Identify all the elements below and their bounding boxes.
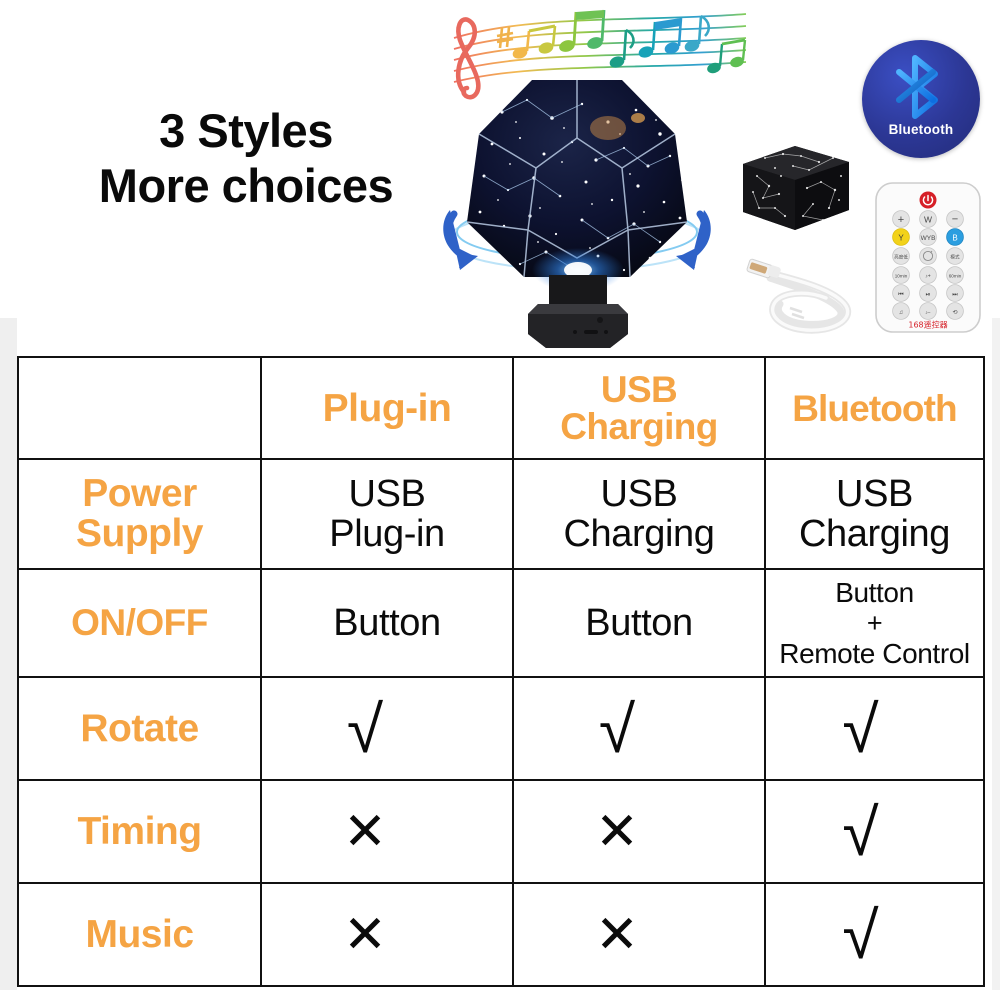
svg-text:亮度低: 亮度低 bbox=[894, 254, 908, 261]
header-cell-usb-charging: USB Charging bbox=[513, 357, 765, 459]
cell-onoff-plugin: Button bbox=[261, 569, 513, 677]
check-icon: √ bbox=[842, 902, 878, 968]
cell-line3: Remote Control bbox=[766, 638, 983, 669]
cross-icon: ✕ bbox=[595, 806, 639, 858]
cell-line1: USB bbox=[766, 474, 983, 514]
svg-text:−: − bbox=[952, 214, 958, 226]
check-icon: √ bbox=[842, 696, 878, 762]
usb-cable bbox=[740, 250, 870, 345]
cell-power-usb: USB Charging bbox=[513, 459, 765, 569]
hero-banner: 3 Styles More choices bbox=[0, 0, 1000, 355]
table-row-onoff: ON/OFF Button Button Button + bbox=[18, 569, 984, 677]
cell-line1: Button bbox=[514, 603, 764, 643]
cell-line1: USB bbox=[262, 474, 512, 514]
svg-text:⏯: ⏯ bbox=[926, 292, 931, 298]
cell-power-bluetooth: USB Charging bbox=[765, 459, 984, 569]
cell-line2: Charging bbox=[766, 514, 983, 554]
table-row-timing: Timing ✕ ✕ √ bbox=[18, 780, 984, 883]
svg-text:♪−: ♪− bbox=[925, 310, 931, 316]
cell-music-usb: ✕ bbox=[513, 883, 765, 986]
row-label-line2: Supply bbox=[19, 514, 260, 554]
right-edge-strip bbox=[992, 318, 1000, 990]
product-comparison-page: 3 Styles More choices bbox=[0, 0, 1000, 1000]
cross-icon: ✕ bbox=[595, 909, 639, 961]
table-row-music: Music ✕ ✕ √ bbox=[18, 883, 984, 986]
bluetooth-badge: Bluetooth bbox=[862, 40, 980, 158]
header-usb-line2: Charging bbox=[514, 408, 764, 445]
row-label-line1: Power bbox=[19, 474, 260, 514]
star-projector-lamp bbox=[432, 72, 722, 357]
comparison-table: Plug-in USB Charging Bluetooth Power Sup bbox=[17, 356, 985, 987]
svg-text:⏭: ⏭ bbox=[952, 292, 958, 298]
cell-line1: USB bbox=[514, 474, 764, 514]
table-corner-cell bbox=[18, 357, 261, 459]
header-cell-plugin: Plug-in bbox=[261, 357, 513, 459]
svg-text:60min: 60min bbox=[949, 274, 962, 279]
bluetooth-label: Bluetooth bbox=[862, 122, 980, 137]
svg-text:+: + bbox=[898, 214, 904, 226]
cell-line2: Plug-in bbox=[262, 514, 512, 554]
header-usb-line1: USB bbox=[514, 371, 764, 408]
cell-timing-usb: ✕ bbox=[513, 780, 765, 883]
row-label-line1: ON/OFF bbox=[19, 604, 260, 642]
left-edge-strip bbox=[0, 318, 17, 990]
cell-timing-bluetooth: √ bbox=[765, 780, 984, 883]
svg-text:B: B bbox=[952, 234, 957, 243]
svg-text:Y: Y bbox=[898, 234, 904, 243]
row-label-line1: Rotate bbox=[19, 709, 260, 749]
svg-text:♪+: ♪+ bbox=[925, 274, 931, 280]
cell-onoff-bluetooth: Button + Remote Control bbox=[765, 569, 984, 677]
check-icon: √ bbox=[347, 696, 383, 762]
row-label-music: Music bbox=[18, 883, 261, 986]
cell-rotate-bluetooth: √ bbox=[765, 677, 984, 780]
check-icon: √ bbox=[599, 696, 635, 762]
row-label-rotate: Rotate bbox=[18, 677, 261, 780]
row-label-line1: Music bbox=[19, 915, 260, 955]
cell-rotate-usb: √ bbox=[513, 677, 765, 780]
cell-line2: Charging bbox=[514, 514, 764, 554]
check-icon: √ bbox=[842, 799, 878, 865]
table-row-rotate: Rotate √ √ √ bbox=[18, 677, 984, 780]
remote-model-label: 168遥控器 bbox=[908, 320, 947, 330]
svg-text:♫: ♫ bbox=[899, 310, 904, 316]
cell-power-plugin: USB Plug-in bbox=[261, 459, 513, 569]
row-label-power-supply: Power Supply bbox=[18, 459, 261, 569]
headline-line-2: More choices bbox=[46, 159, 446, 214]
cell-music-bluetooth: √ bbox=[765, 883, 984, 986]
header-cell-bluetooth: Bluetooth bbox=[765, 357, 984, 459]
constellation-gift-box bbox=[735, 124, 857, 236]
svg-text:10min: 10min bbox=[895, 274, 908, 279]
cell-timing-plugin: ✕ bbox=[261, 780, 513, 883]
svg-text:W: W bbox=[924, 215, 932, 225]
row-label-line1: Timing bbox=[19, 812, 260, 852]
row-label-timing: Timing bbox=[18, 780, 261, 883]
cell-line2: + bbox=[766, 608, 983, 638]
page-title: 3 Styles More choices bbox=[46, 104, 446, 213]
row-label-onoff: ON/OFF bbox=[18, 569, 261, 677]
cell-rotate-plugin: √ bbox=[261, 677, 513, 780]
cross-icon: ✕ bbox=[343, 909, 387, 961]
table-row-power-supply: Power Supply USB Plug-in USB Charging bbox=[18, 459, 984, 569]
svg-text:⏮: ⏮ bbox=[898, 292, 904, 298]
table-header-row: Plug-in USB Charging Bluetooth bbox=[18, 357, 984, 459]
svg-text:模式: 模式 bbox=[950, 254, 960, 261]
cell-line1: Button bbox=[766, 577, 983, 608]
svg-text:⟲: ⟲ bbox=[952, 310, 957, 316]
cross-icon: ✕ bbox=[343, 806, 387, 858]
remote-control: + W − Y WYB B 亮度低 模式 10min ♪+ 60min ⏮ ⏯ … bbox=[872, 180, 984, 335]
headline-line-1: 3 Styles bbox=[46, 104, 446, 159]
cell-line1: Button bbox=[262, 603, 512, 643]
svg-text:WYB: WYB bbox=[921, 235, 936, 242]
cell-onoff-usb: Button bbox=[513, 569, 765, 677]
bluetooth-icon bbox=[893, 54, 949, 120]
cell-music-plugin: ✕ bbox=[261, 883, 513, 986]
